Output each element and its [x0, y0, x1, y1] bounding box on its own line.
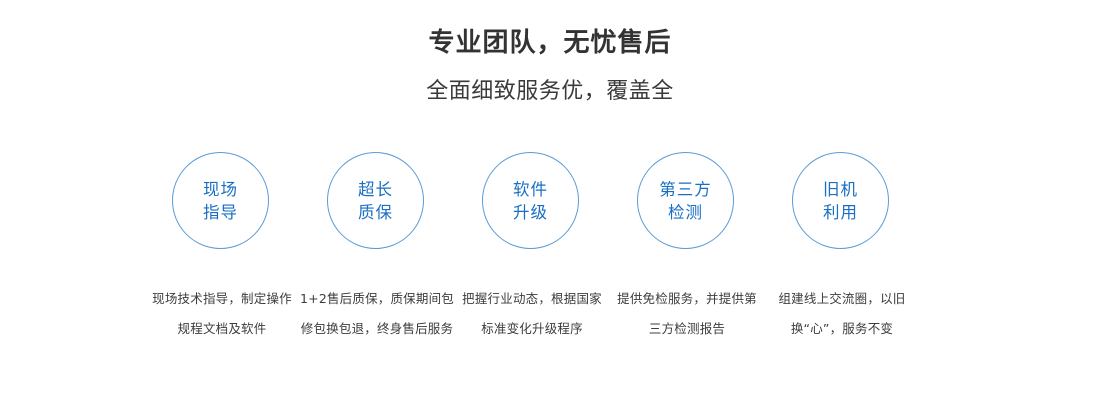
feature-circle-label-line2: 指导 — [203, 201, 238, 224]
feature-circle-1[interactable]: 现场 指导 — [172, 152, 269, 249]
feature-circle-label-line1: 旧机 — [823, 178, 858, 201]
feature-item-4[interactable]: 第三方 检测 提供免检服务，并提供第 三方检测报告 — [610, 152, 765, 352]
feature-circle-3[interactable]: 软件 升级 — [482, 152, 579, 249]
feature-caption-line2: 换“心”，服务不变 — [758, 314, 927, 344]
feature-caption-line1: 组建线上交流圈，以旧 — [758, 284, 927, 314]
feature-caption-line2: 规程文档及软件 — [138, 314, 307, 344]
page-subtitle: 全面细致服务优，覆盖全 — [0, 60, 1100, 107]
feature-circle-label-line1: 超长 — [358, 178, 393, 201]
feature-caption-5: 组建线上交流圈，以旧 换“心”，服务不变 — [758, 284, 927, 344]
feature-item-1[interactable]: 现场 指导 现场技术指导，制定操作 规程文档及软件 — [145, 152, 300, 352]
feature-caption-2: 1+2售后质保，质保期间包 修包换包退，终身售后服务 — [293, 284, 462, 344]
feature-circle-label-line1: 第三方 — [659, 178, 712, 201]
heading-block: 专业团队，无忧售后 全面细致服务优，覆盖全 — [0, 0, 1100, 107]
feature-caption-line1: 1+2售后质保，质保期间包 — [293, 284, 462, 314]
feature-caption-line1: 现场技术指导，制定操作 — [138, 284, 307, 314]
feature-circle-label-line2: 质保 — [358, 201, 393, 224]
feature-circle-label-line1: 现场 — [203, 178, 238, 201]
feature-circle-label-line2: 检测 — [668, 201, 703, 224]
feature-caption-line1: 把握行业动态，根据国家 — [448, 284, 617, 314]
feature-caption-line2: 标准变化升级程序 — [448, 314, 617, 344]
feature-circle-label-line2: 利用 — [823, 201, 858, 224]
feature-circle-4[interactable]: 第三方 检测 — [637, 152, 734, 249]
feature-item-3[interactable]: 软件 升级 把握行业动态，根据国家 标准变化升级程序 — [455, 152, 610, 352]
feature-circle-5[interactable]: 旧机 利用 — [792, 152, 889, 249]
feature-caption-1: 现场技术指导，制定操作 规程文档及软件 — [138, 284, 307, 344]
feature-item-2[interactable]: 超长 质保 1+2售后质保，质保期间包 修包换包退，终身售后服务 — [300, 152, 455, 352]
feature-caption-line1: 提供免检服务，并提供第 — [603, 284, 772, 314]
feature-caption-line2: 修包换包退，终身售后服务 — [293, 314, 462, 344]
feature-circle-label-line1: 软件 — [513, 178, 548, 201]
feature-item-5[interactable]: 旧机 利用 组建线上交流圈，以旧 换“心”，服务不变 — [765, 152, 920, 352]
service-promise-section: 专业团队，无忧售后 全面细致服务优，覆盖全 现场 指导 现场技术指导，制定操作 … — [0, 0, 1100, 404]
feature-caption-4: 提供免检服务，并提供第 三方检测报告 — [603, 284, 772, 344]
feature-row: 现场 指导 现场技术指导，制定操作 规程文档及软件 超长 质保 1+2售后质保，… — [0, 152, 1100, 352]
page-title: 专业团队，无忧售后 — [0, 0, 1100, 60]
feature-circle-2[interactable]: 超长 质保 — [327, 152, 424, 249]
feature-caption-line2: 三方检测报告 — [603, 314, 772, 344]
feature-circle-label-line2: 升级 — [513, 201, 548, 224]
feature-caption-3: 把握行业动态，根据国家 标准变化升级程序 — [448, 284, 617, 344]
